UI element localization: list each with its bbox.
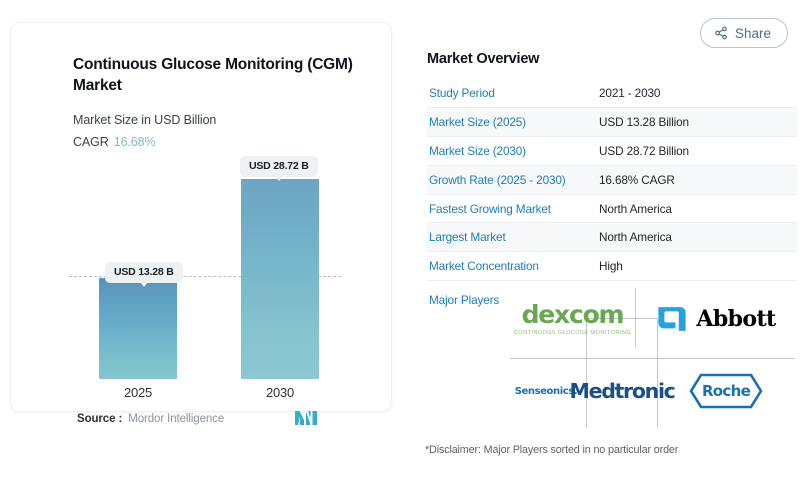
page-title: Market Overview [427,51,539,67]
row-value: USD 13.28 Billion [599,108,797,137]
logo-abbott[interactable]: Abbott [643,298,788,340]
share-button[interactable]: Share [700,18,788,48]
mordor-intelligence-logo [294,410,320,426]
row-key: Market Concentration [427,252,599,281]
chart-card: Continuous Glucose Monitoring (CGM) Mark… [10,22,392,412]
row-value: 16.68% CAGR [599,165,797,194]
table-row: Market Concentration High [427,252,797,281]
source-label: Source : [77,413,122,425]
market-snapshot-page: Continuous Glucose Monitoring (CGM) Mark… [0,0,800,482]
major-players-label: Major Players [429,293,499,307]
dexcom-wordmark: dexcom [522,302,624,327]
row-key: Study Period [427,79,599,108]
table-row: Market Size (2025) USD 13.28 Billion [427,108,797,137]
dexcom-tagline: CONTINUOUS GLUCOSE MONITORING [514,330,631,336]
row-value: 2021 - 2030 [599,79,797,108]
disclaimer-text: *Disclaimer: Major Players sorted in no … [425,444,678,456]
table-row: Fastest Growing Market North America [427,194,797,223]
row-value: North America [599,223,797,252]
x-axis-label-2025: 2025 [88,385,188,400]
table-row: Growth Rate (2025 - 2030) 16.68% CAGR [427,165,797,194]
row-value: USD 28.72 Billion [599,137,797,166]
table-row: Largest Market North America [427,223,797,252]
medtronic-wordmark: Medtronic [569,379,674,403]
table-row: Market Size (2030) USD 28.72 Billion [427,137,797,166]
table-row: Study Period 2021 - 2030 [427,79,797,108]
row-key: Market Size (2030) [427,137,599,166]
row-key: Growth Rate (2025 - 2030) [427,165,599,194]
overview-table: Study Period 2021 - 2030 Market Size (20… [427,79,797,281]
logo-medtronic[interactable]: Medtronic [586,366,658,416]
senseonics-wordmark: Senseonics. [515,386,578,397]
source-line: Source :Mordor Intelligence [77,413,224,425]
row-value: High [599,252,797,281]
row-key: Largest Market [427,223,599,252]
logo-roche[interactable]: Roche [685,366,767,416]
bar-chart-plot: USD 13.28 B USD 28.72 B 2025 2030 [11,23,393,413]
major-players-logo-grid: dexcom CONTINUOUS GLUCOSE MONITORING Abb… [510,288,795,428]
share-icon [714,26,728,40]
bar-2030[interactable] [241,179,319,379]
logo-dexcom[interactable]: dexcom CONTINUOUS GLUCOSE MONITORING [515,296,630,342]
row-value: North America [599,194,797,223]
row-key: Market Size (2025) [427,108,599,137]
bar-label-2030: USD 28.72 B [240,156,318,177]
source-name: Mordor Intelligence [128,413,224,425]
share-button-label: Share [735,26,771,41]
roche-wordmark: Roche [702,382,750,400]
row-key: Fastest Growing Market [427,194,599,223]
x-axis-label-2030: 2030 [230,385,330,400]
abbott-mark-icon [655,302,689,336]
abbott-wordmark: Abbott [696,306,775,332]
bar-2025[interactable] [99,278,177,379]
bar-label-2025: USD 13.28 B [105,262,183,283]
